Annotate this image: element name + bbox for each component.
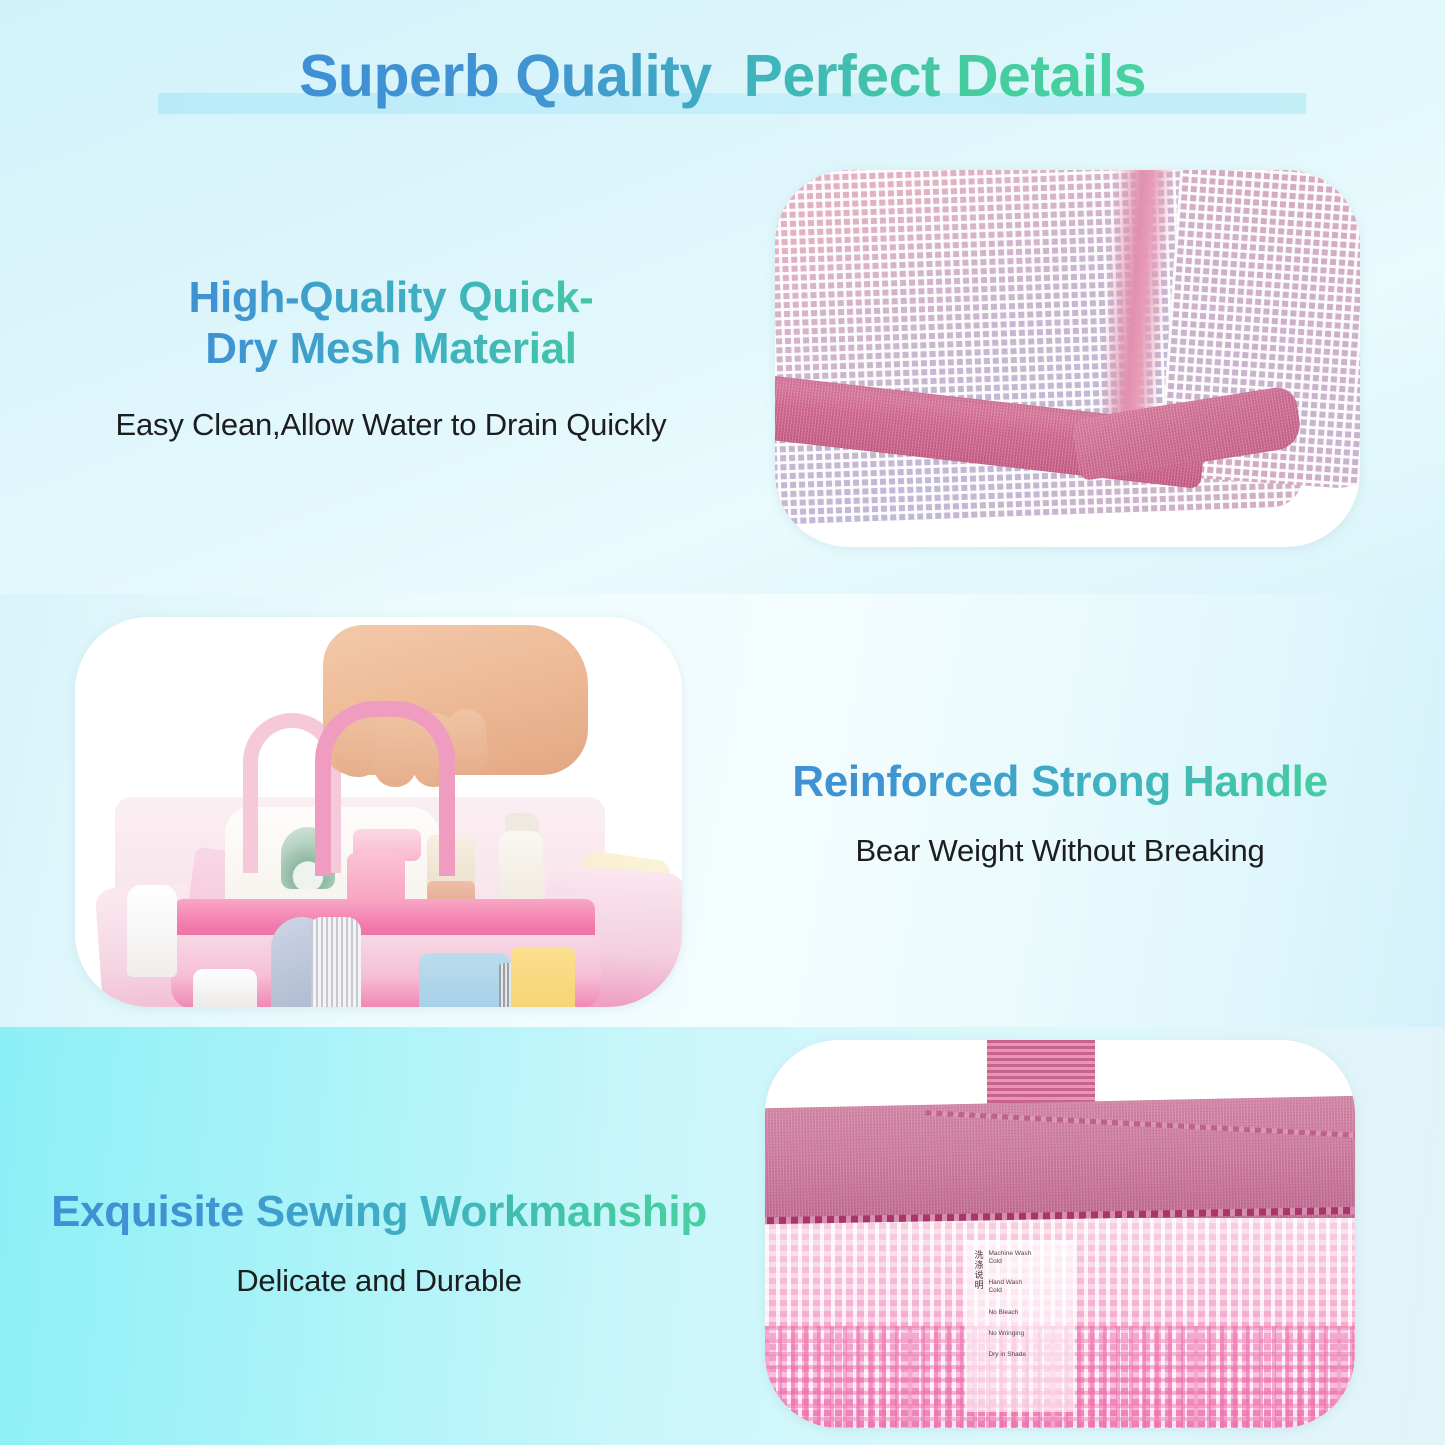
caddy-handle-front [315,701,455,876]
white-bottle [127,885,177,977]
care-label: 洗涤说明 Machine Wash Cold Hand Wash Cold No… [965,1240,1075,1412]
care-label-en-line: Machine Wash Cold [988,1250,1034,1266]
care-label-cjk-line: 洗涤说明 [973,1250,982,1290]
feature-heading-sewing-workmanship: Exquisite Sewing Workmanship [14,1186,744,1237]
feature-text-quick-dry-mesh: High-Quality Quick-Dry Mesh Material Eas… [46,272,736,443]
page-header: Superb Quality Perfect Details [0,36,1445,116]
yellow-washcloth [511,947,575,1007]
feature-subheading-quick-dry-mesh: Easy Clean,Allow Water to Drain Quickly [46,407,736,443]
blue-washcloth [419,953,511,1007]
feature-heading-quick-dry-mesh: High-Quality Quick-Dry Mesh Material [46,272,736,375]
feature-subheading-sewing-workmanship: Delicate and Durable [14,1263,744,1299]
care-label-cjk-column: 洗涤说明 [973,1250,982,1412]
feature-image-strong-handle [75,617,682,1007]
care-label-en-column: Machine Wash Cold Hand Wash Cold No Blea… [988,1250,1034,1412]
feature-image-quick-dry-mesh [775,170,1360,547]
baby-brush-bristles [311,917,361,1007]
infographic-page: Superb Quality Perfect Details High-Qual… [0,0,1445,1445]
care-label-en-line: Hand Wash Cold [988,1279,1034,1295]
care-label-en-line: Dry in Shade [988,1351,1034,1359]
white-jar [193,969,257,1007]
caddy-photo-scene [75,617,682,1007]
feature-text-sewing-workmanship: Exquisite Sewing Workmanship Delicate an… [14,1186,744,1299]
feature-text-strong-handle: Reinforced Strong Handle Bear Weight Wit… [700,756,1420,869]
care-label-en-line: No Bleach [988,1309,1034,1317]
feature-heading-strong-handle: Reinforced Strong Handle [700,756,1420,807]
page-title: Superb Quality Perfect Details [299,43,1146,109]
feature-subheading-strong-handle: Bear Weight Without Breaking [700,833,1420,869]
care-label-en-line: No Wringing [988,1330,1034,1338]
feature-image-sewing-workmanship: 洗涤说明 Machine Wash Cold Hand Wash Cold No… [765,1040,1355,1428]
